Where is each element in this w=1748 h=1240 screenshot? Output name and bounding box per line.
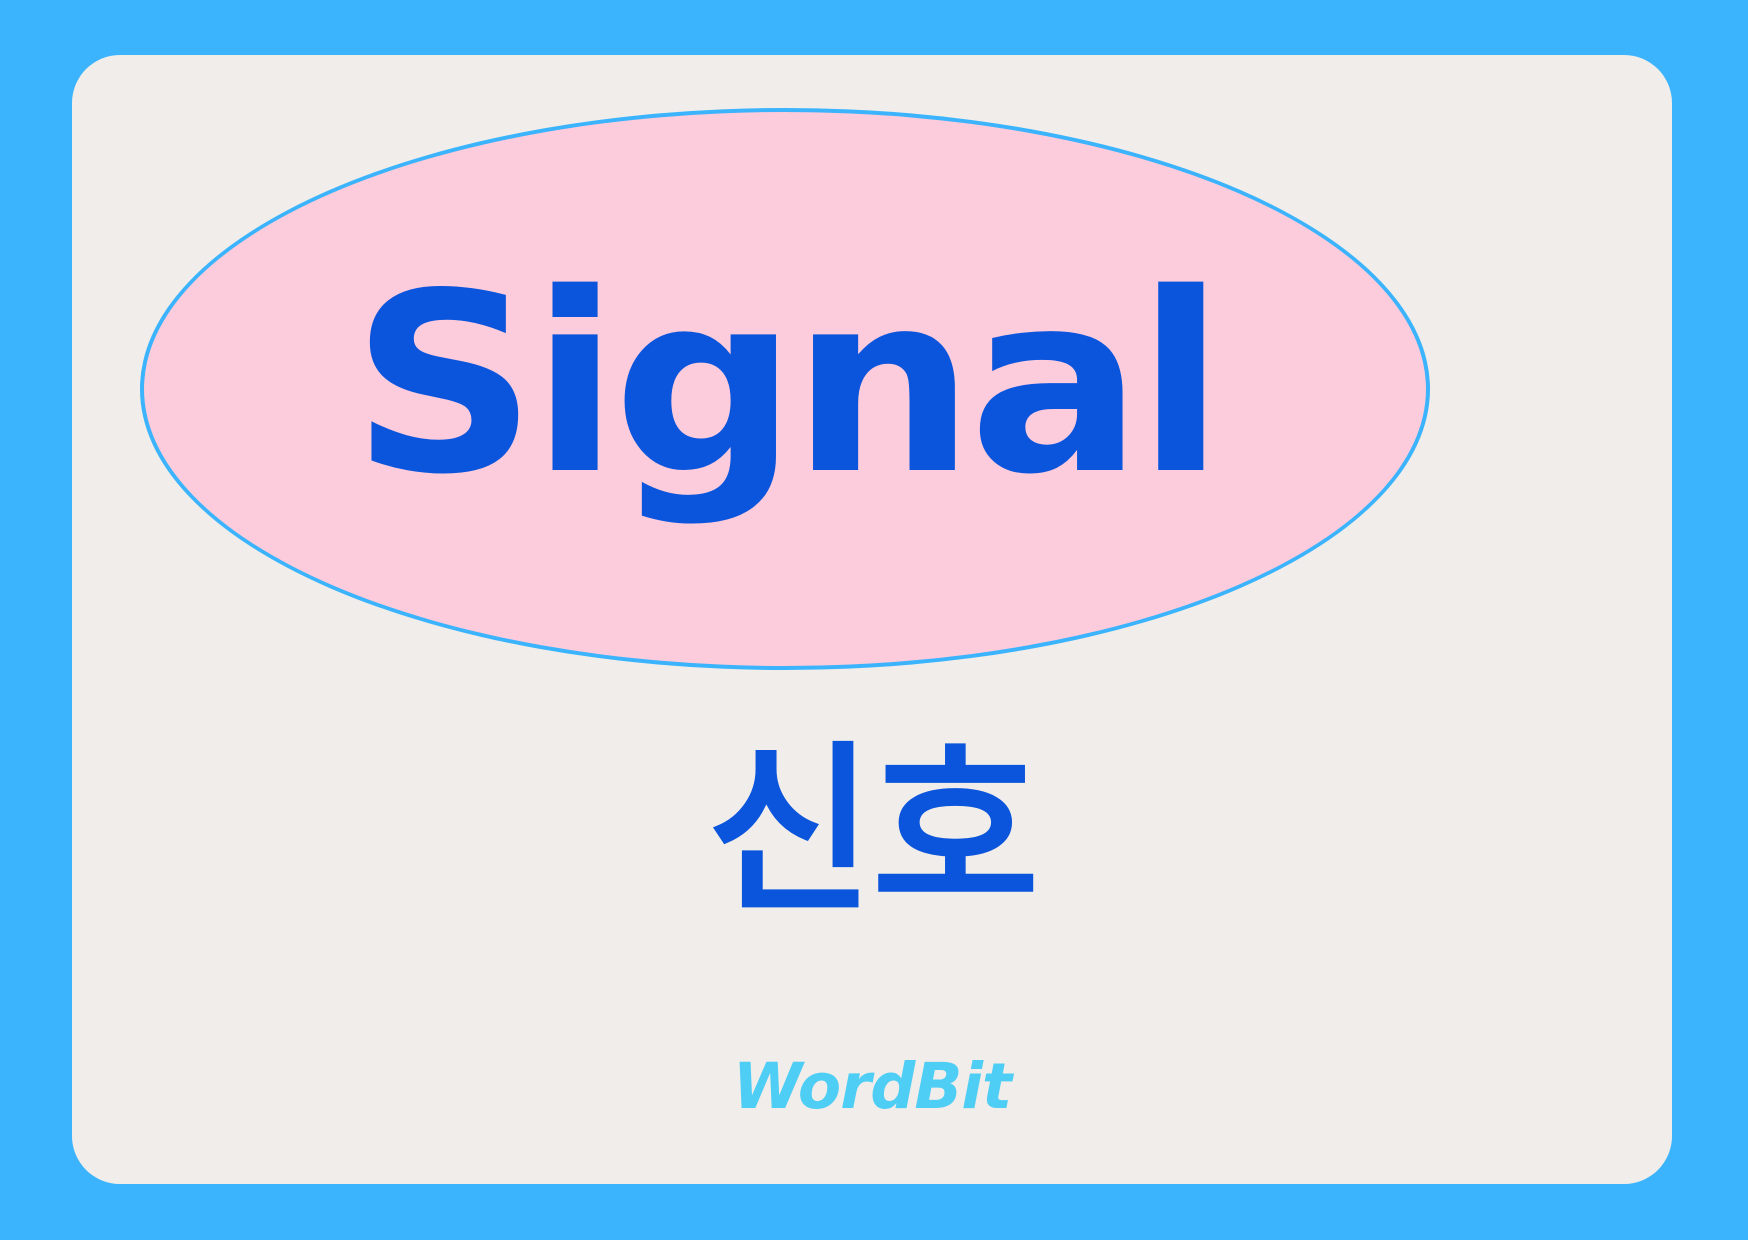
headword-ellipse: Signal bbox=[140, 108, 1430, 670]
flashcard-card[interactable]: Signal 신호 WordBit bbox=[72, 55, 1672, 1184]
headword-text: Signal bbox=[351, 261, 1218, 509]
wordbit-brand-label: WordBit bbox=[72, 1055, 1672, 1118]
translation-text: 신호 bbox=[72, 733, 1672, 930]
flashcard-screen: Signal 신호 WordBit bbox=[0, 0, 1748, 1240]
